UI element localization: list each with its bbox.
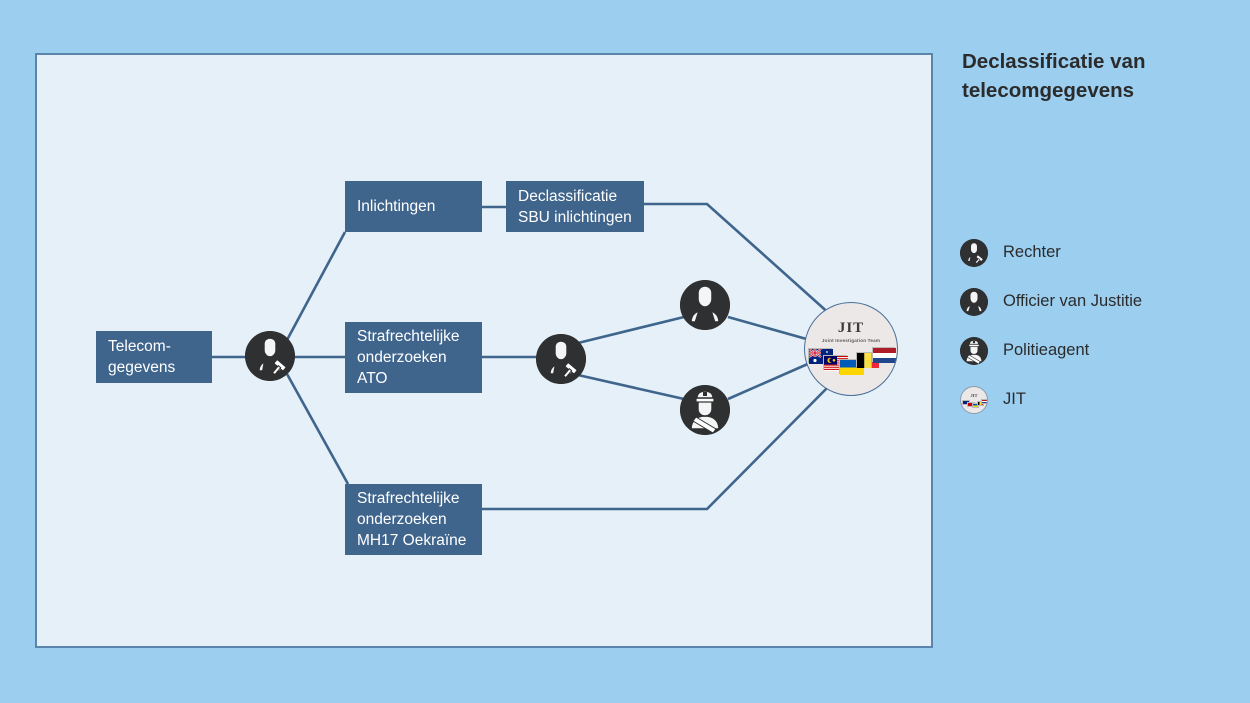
node-box-declassificatie-sbu[interactable]: Declassificatie SBU inlichtingen <box>506 181 644 232</box>
actor-judge-icon-2[interactable] <box>536 334 586 384</box>
legend-item-rechter[interactable]: Rechter <box>960 228 1240 277</box>
jit-flag-group <box>808 346 894 376</box>
actor-police-icon[interactable] <box>680 385 730 435</box>
node-box-strafrechtelijke-onderzoeken-mh17[interactable]: Strafrechtelijke onderzoeken MH17 Oekraï… <box>345 484 482 555</box>
flag-netherlands <box>872 347 895 362</box>
node-jit[interactable]: JIT Joint Investigation Team <box>804 302 898 396</box>
legend-item-politieagent[interactable]: Politieagent <box>960 326 1240 375</box>
legend-item-label: Officier van Justitie <box>1003 292 1142 311</box>
node-label: Inlichtingen <box>357 196 435 217</box>
jit-emblem-icon: JIT <box>960 386 988 414</box>
prosecutor-icon <box>960 288 988 316</box>
actor-prosecutor-icon[interactable] <box>680 280 730 330</box>
diagram-page: Telecom- gegevens Inlichtingen Declassif… <box>0 0 1250 703</box>
node-label: Strafrechtelijke onderzoeken MH17 Oekraï… <box>357 488 466 551</box>
judge-icon <box>245 331 295 381</box>
legend: Rechter Officier van Justitie <box>960 228 1240 424</box>
node-label: Declassificatie SBU inlichtingen <box>518 186 632 228</box>
legend-item-officier-van-justitie[interactable]: Officier van Justitie <box>960 277 1240 326</box>
legend-item-label: Rechter <box>1003 243 1061 262</box>
judge-icon <box>960 239 988 267</box>
legend-item-label: Politieagent <box>1003 341 1089 360</box>
node-box-inlichtingen[interactable]: Inlichtingen <box>345 181 482 232</box>
node-box-telecom[interactable]: Telecom- gegevens <box>96 331 212 383</box>
node-label: Strafrechtelijke onderzoeken ATO <box>357 326 460 389</box>
node-box-strafrechtelijke-onderzoeken-ato[interactable]: Strafrechtelijke onderzoeken ATO <box>345 322 482 393</box>
actor-judge-icon-1[interactable] <box>245 331 295 381</box>
flag-netherlands <box>981 399 988 404</box>
jit-subtitle: Joint Investigation Team <box>822 338 880 343</box>
police-icon <box>680 385 730 435</box>
jit-title: JIT <box>838 320 864 337</box>
page-title: Declassificatie van telecomgegevens <box>962 47 1232 105</box>
jit-mini-title: JIT <box>970 393 977 398</box>
node-label: Telecom- gegevens <box>108 336 175 378</box>
prosecutor-icon <box>680 280 730 330</box>
judge-icon <box>536 334 586 384</box>
legend-item-label: JIT <box>1003 390 1026 409</box>
legend-item-jit[interactable]: JIT JIT <box>960 375 1240 424</box>
police-icon <box>960 337 988 365</box>
